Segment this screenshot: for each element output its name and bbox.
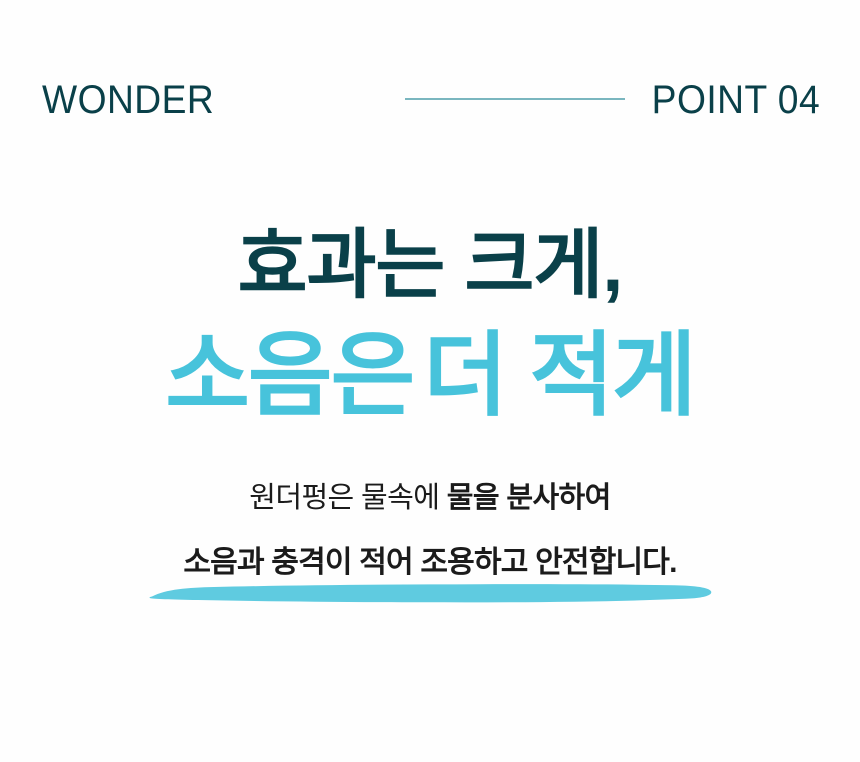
promo-page: WONDER POINT 04 효과는 크게, 소음은더 적게 원더펑은 물속에… <box>0 0 860 762</box>
subcopy-line-1-emphasis: 물을 분사하여 <box>447 482 611 514</box>
subcopy-line-2-wrapper: 소음과 충격이 적어 조용하고 안전합니다. <box>183 548 676 578</box>
headline-line-2: 소음은더 적게 <box>0 330 860 422</box>
subcopy-block: 원더펑은 물속에 물을 분사하여 소음과 충격이 적어 조용하고 안전합니다. <box>0 484 860 578</box>
subcopy-line-2: 소음과 충격이 적어 조용하고 안전합니다. <box>183 548 676 578</box>
subcopy-line-1: 원더펑은 물속에 물을 분사하여 <box>0 484 860 513</box>
headline-line-2-part-1: 소음은 <box>165 325 413 427</box>
subcopy-line-1-regular: 원더펑은 물속에 <box>249 482 446 514</box>
header-row: WONDER POINT 04 <box>0 72 860 128</box>
brush-stroke-highlight <box>148 583 714 603</box>
headline-block: 효과는 크게, 소음은더 적게 <box>0 228 860 422</box>
headline-line-2-part-2: 더 적게 <box>423 325 694 427</box>
point-label: POINT 04 <box>652 80 820 120</box>
brand-wordmark: WONDER <box>42 80 214 120</box>
headline-line-1: 효과는 크게, <box>0 228 860 304</box>
header-divider-rule <box>405 98 625 100</box>
